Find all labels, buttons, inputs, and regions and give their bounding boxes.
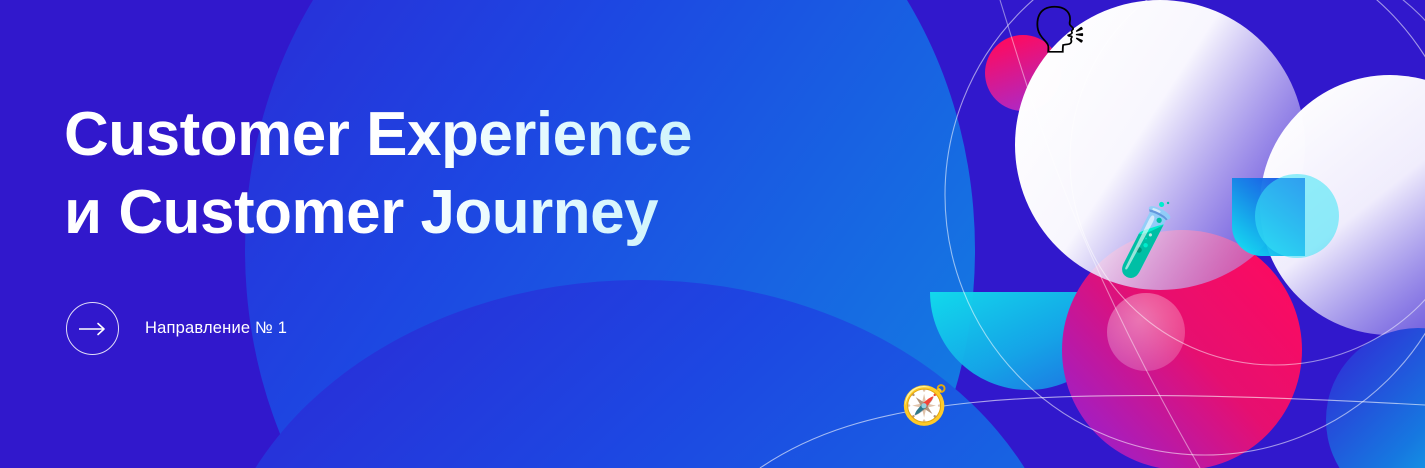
compass-icon: 🧭 — [901, 383, 948, 427]
translucent-circle-overlay — [1107, 293, 1185, 371]
cyan-circle-accent — [1255, 174, 1339, 258]
page-title: Customer Experience и Customer Journey — [64, 96, 692, 252]
subtitle-label: Направление № 1 — [145, 319, 287, 338]
course-banner: 🗣 🧪 🧭 Customer Experience и Customer Jou… — [0, 0, 1425, 468]
subtitle-row: Направление № 1 — [66, 302, 287, 355]
arrow-right-button[interactable] — [66, 302, 119, 355]
arrow-right-icon — [78, 322, 108, 336]
speaking-head-icon: 🗣 — [1031, 2, 1089, 56]
